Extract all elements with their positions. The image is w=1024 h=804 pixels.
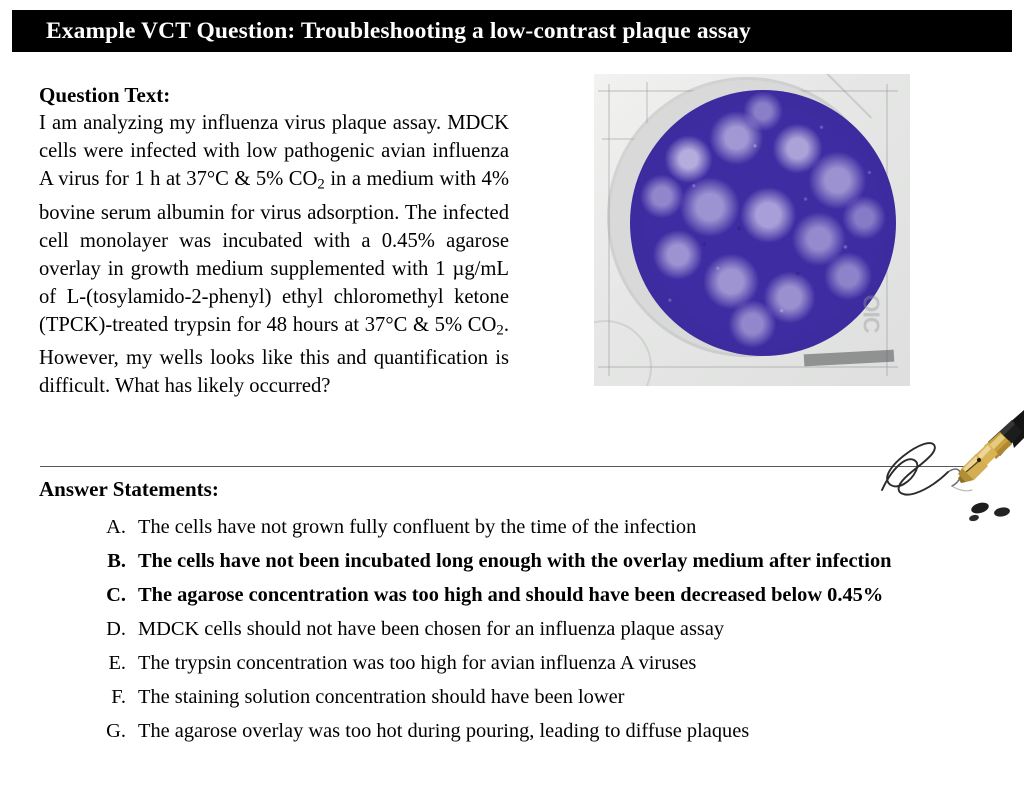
plate-logo-text: OIC <box>857 295 884 333</box>
answer-option-g[interactable]: G. The agarose overlay was too hot durin… <box>100 717 1000 745</box>
plaque-speckle-texture <box>630 90 896 356</box>
answer-option-b[interactable]: B. The cells have not been incubated lon… <box>100 547 1000 575</box>
question-block: Question Text: I am analyzing my influen… <box>39 83 509 400</box>
well-rim <box>610 80 884 354</box>
question-body: I am analyzing my influenza virus plaque… <box>39 109 509 400</box>
answer-text-c: The agarose concentration was too high a… <box>138 581 1000 609</box>
answer-option-c[interactable]: C. The agarose concentration was too hig… <box>100 581 1000 609</box>
co2-subscript-2: 2 <box>496 322 503 338</box>
answer-text-a: The cells have not grown fully confluent… <box>138 513 1000 541</box>
co2-subscript-1: 2 <box>317 176 324 192</box>
question-title-bar: Example VCT Question: Troubleshooting a … <box>12 10 1012 52</box>
question-heading: Question Text: <box>39 83 509 108</box>
stained-cell-monolayer <box>630 90 896 356</box>
answer-option-a[interactable]: A. The cells have not grown fully conflu… <box>100 513 1000 541</box>
answer-option-e[interactable]: E. The trypsin concentration was too hig… <box>100 649 1000 677</box>
answer-text-g: The agarose overlay was too hot during p… <box>138 717 1000 745</box>
answer-text-f: The staining solution concentration shou… <box>138 683 1000 711</box>
page-title: Example VCT Question: Troubleshooting a … <box>46 18 751 45</box>
answer-letter-d: D. <box>100 615 138 643</box>
section-divider <box>40 466 984 467</box>
answer-letter-c: C. <box>100 581 138 609</box>
answer-letter-b: B. <box>100 547 138 575</box>
answer-letter-g: G. <box>100 717 138 745</box>
answer-letter-e: E. <box>100 649 138 677</box>
answer-option-d[interactable]: D. MDCK cells should not have been chose… <box>100 615 1000 643</box>
answers-heading: Answer Statements: <box>39 477 219 502</box>
answer-option-f[interactable]: F. The staining solution concentration s… <box>100 683 1000 711</box>
answer-text-b: The cells have not been incubated long e… <box>138 547 1000 575</box>
answer-text-d: MDCK cells should not have been chosen f… <box>138 615 1000 643</box>
question-body-part-2: in a medium with 4% bovine serum albumin… <box>39 168 509 336</box>
answer-letter-f: F. <box>100 683 138 711</box>
answer-text-e: The trypsin concentration was too high f… <box>138 649 1000 677</box>
answer-letter-a: A. <box>100 513 138 541</box>
plaque-assay-photo: OIC <box>594 74 910 386</box>
answer-statements-list: A. The cells have not grown fully conflu… <box>100 513 1000 751</box>
